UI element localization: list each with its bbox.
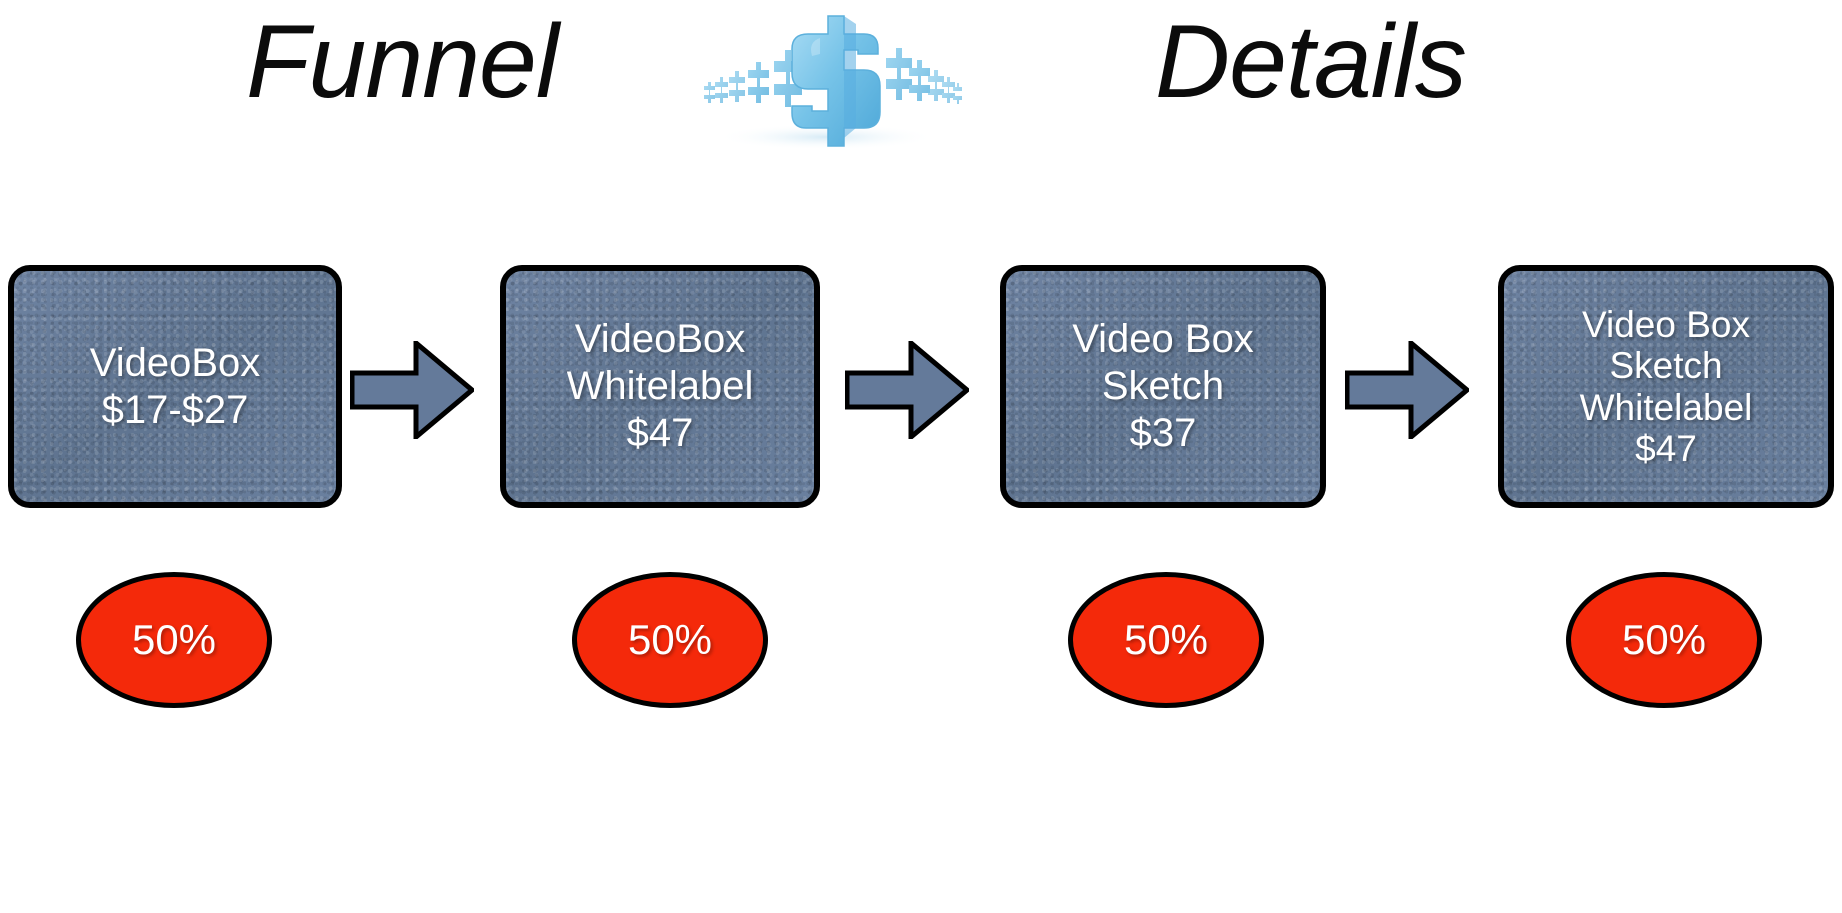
arrow-right-icon [845, 341, 969, 439]
heading-details: Details [1155, 8, 1466, 117]
funnel-step-2-line-1: VideoBox [575, 316, 746, 363]
funnel-step-1-line-1: VideoBox [90, 340, 261, 387]
funnel-step-4[interactable]: Video Box Sketch Whitelabel $47 [1498, 265, 1834, 508]
conversion-badge-1[interactable]: 50% [76, 572, 272, 708]
arrow-right-icon [350, 341, 474, 439]
funnel-step-4-line-4: $47 [1635, 428, 1697, 469]
funnel-step-3-line-3: $37 [1130, 410, 1197, 457]
conversion-badge-2-label: 50% [628, 619, 712, 661]
dollar-signs-3d-icon [690, 6, 962, 154]
funnel-step-1[interactable]: VideoBox $17-$27 [8, 265, 342, 508]
funnel-step-3-line-2: Sketch [1102, 363, 1224, 410]
funnel-step-3[interactable]: Video Box Sketch $37 [1000, 265, 1326, 508]
funnel-slide: Funnel [0, 0, 1842, 913]
conversion-badge-4-label: 50% [1622, 619, 1706, 661]
funnel-step-2[interactable]: VideoBox Whitelabel $47 [500, 265, 820, 508]
funnel-step-3-line-1: Video Box [1072, 316, 1254, 363]
conversion-rate-row: 50% 50% 50% 50% [0, 572, 1842, 732]
conversion-badge-3[interactable]: 50% [1068, 572, 1264, 708]
funnel-step-2-line-3: $47 [627, 410, 694, 457]
conversion-badge-3-label: 50% [1124, 619, 1208, 661]
heading-funnel: Funnel [246, 8, 558, 117]
conversion-badge-4[interactable]: 50% [1566, 572, 1762, 708]
slide-header: Funnel [0, 0, 1842, 170]
funnel-step-4-line-1: Video Box [1582, 304, 1750, 345]
funnel-step-4-line-3: Whitelabel [1580, 387, 1753, 428]
conversion-badge-2[interactable]: 50% [572, 572, 768, 708]
funnel-step-2-line-2: Whitelabel [567, 363, 754, 410]
funnel-step-4-line-2: Sketch [1609, 345, 1722, 386]
funnel-step-1-line-2: $17-$27 [102, 387, 249, 434]
funnel-flow: VideoBox $17-$27 VideoBox Whitelabel $47… [0, 253, 1842, 523]
arrow-right-icon [1345, 341, 1469, 439]
conversion-badge-1-label: 50% [132, 619, 216, 661]
